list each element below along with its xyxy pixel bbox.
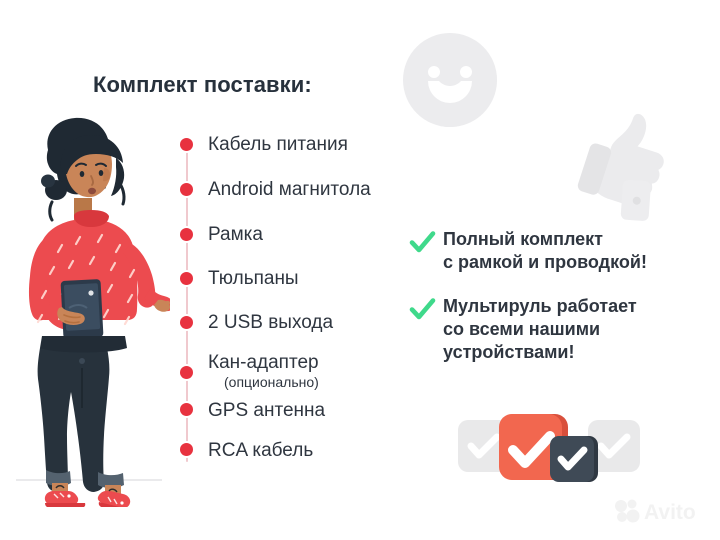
- avito-watermark-text: Avito: [644, 501, 696, 524]
- list-item: RCA кабель: [178, 440, 418, 480]
- bullet-icon: [180, 183, 193, 196]
- benefit-text: Мультируль работает со всеми нашими устр…: [443, 295, 637, 364]
- thumbs-up-icon: [572, 110, 682, 222]
- list-item-label: Кан-адаптер: [208, 352, 418, 374]
- page-title: Комплект поставки:: [93, 72, 312, 98]
- benefit-line: устройствами!: [443, 341, 637, 364]
- list-item: Android магнитола: [178, 179, 418, 224]
- smiley-face-icon: [401, 31, 499, 129]
- list-item: Кан-адаптер (опционально): [178, 352, 418, 400]
- benefit-line: с рамкой и проводкой!: [443, 251, 647, 274]
- list-item-sublabel: (опционально): [224, 374, 418, 391]
- benefit-text: Полный комплект с рамкой и проводкой!: [443, 228, 647, 274]
- benefit-line: со всеми нашими: [443, 318, 637, 341]
- list-item-label: RCA кабель: [208, 440, 313, 462]
- woman-with-tablet-illustration: [12, 112, 170, 507]
- benefit-item: Мультируль работает со всеми нашими устр…: [409, 295, 637, 364]
- bullet-icon: [180, 272, 193, 285]
- bullet-icon: [180, 316, 193, 329]
- list-item: Рамка: [178, 224, 418, 268]
- check-icon: [409, 296, 436, 323]
- list-item: GPS антенна: [178, 400, 418, 440]
- bullet-icon: [180, 138, 193, 151]
- list-item-label: Кабель питания: [208, 134, 348, 156]
- list-item: 2 USB выхода: [178, 312, 418, 352]
- benefit-line: Полный комплект: [443, 228, 647, 251]
- checkbox-group-icon: [458, 406, 640, 498]
- benefit-line: Мультируль работает: [443, 295, 637, 318]
- list-item: Кабель питания: [178, 134, 418, 179]
- bullet-icon: [180, 403, 193, 416]
- bullet-icon: [180, 228, 193, 241]
- avito-watermark: Avito: [612, 496, 710, 526]
- list-item-label: GPS антенна: [208, 400, 325, 422]
- poster-canvas: Комплект поставки: Кабель питания Androi…: [0, 0, 720, 540]
- bullet-icon: [180, 443, 193, 456]
- list-item-label: 2 USB выхода: [208, 312, 333, 334]
- delivery-list: Кабель питания Android магнитола Рамка Т…: [178, 134, 418, 480]
- list-item: Тюльпаны: [178, 268, 418, 312]
- list-item-label: Android магнитола: [208, 179, 371, 201]
- list-item-label: Тюльпаны: [208, 268, 299, 290]
- benefit-item: Полный комплект с рамкой и проводкой!: [409, 228, 647, 274]
- bullet-icon: [180, 366, 193, 379]
- avito-logo-icon: [615, 500, 640, 523]
- list-item-label: Рамка: [208, 224, 263, 246]
- check-icon: [409, 229, 436, 256]
